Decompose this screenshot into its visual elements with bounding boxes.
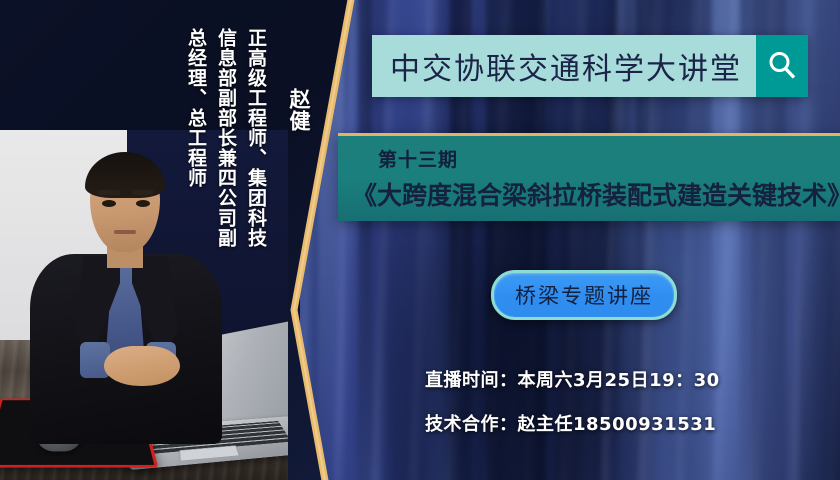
speaker-title-line-2: 信息部副部长兼四公司副 xyxy=(216,28,235,248)
speaker-title-line-1: 正高级工程师、集团科技 xyxy=(246,28,265,248)
category-badge[interactable]: 桥梁专题讲座 xyxy=(491,270,677,320)
page-title: 中交协联交通科学大讲堂 xyxy=(372,35,756,97)
broadcast-time-text: 直播时间：本周六3月25日19：30 xyxy=(425,366,720,392)
subtitle-panel: 第十三期 《大跨度混合梁斜拉桥装配式建造关键技术》 xyxy=(338,133,840,221)
search-button[interactable] xyxy=(756,35,808,97)
speaker-name: 赵健 xyxy=(288,88,309,132)
topic-title: 《大跨度混合梁斜拉桥装配式建造关键技术》 xyxy=(352,176,840,212)
webinar-poster: 赵健 正高级工程师、集团科技 信息部副部长兼四公司副 总经理、总工程师 中交协联… xyxy=(0,0,840,480)
episode-label: 第十三期 xyxy=(378,145,458,172)
contact-text: 技术合作：赵主任18500931531 xyxy=(425,410,716,436)
search-icon xyxy=(765,49,799,83)
title-banner: 中交协联交通科学大讲堂 xyxy=(372,35,808,97)
speaker-title-line-3: 总经理、总工程师 xyxy=(186,28,205,188)
